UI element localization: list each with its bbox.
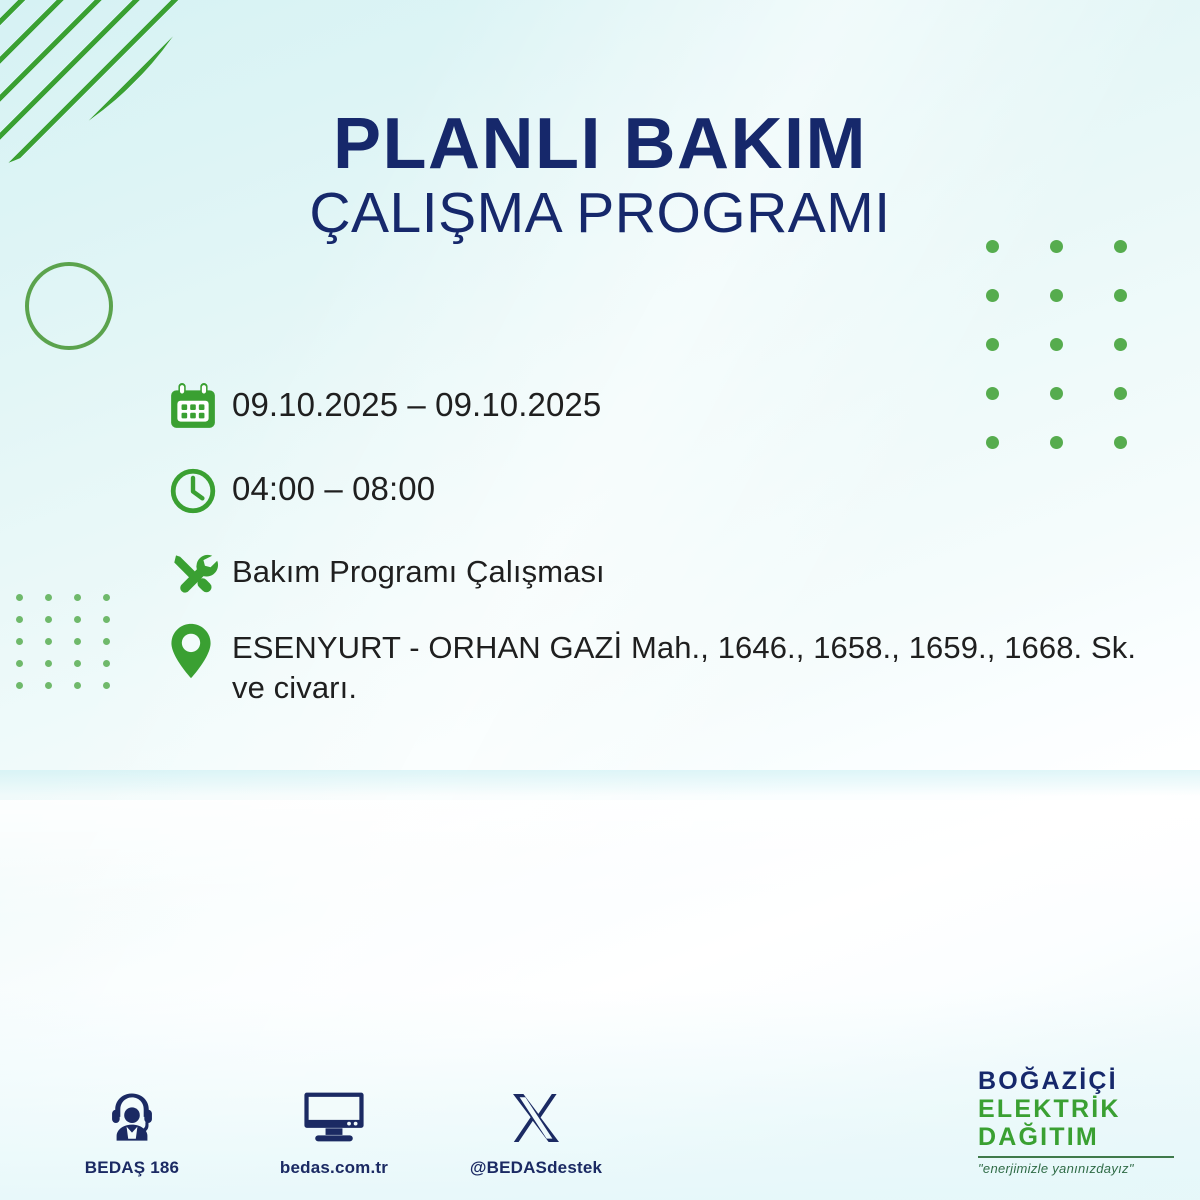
brand-line-2: ELEKTRİK [978,1095,1178,1123]
poster-canvas: PLANLI BAKIM ÇALIŞMA PROGRAMI [0,0,1200,1200]
contact-website[interactable]: bedas.com.tr [260,1082,408,1178]
detail-row-work: Bakım Programı Çalışması [168,546,1168,604]
brand-line-1: BOĞAZİÇİ [978,1067,1178,1095]
clock-icon [168,462,232,520]
work-type-text: Bakım Programı Çalışması [232,546,605,592]
brand-logo: BOĞAZİÇİ ELEKTRİK DAĞITIM "enerjimizle y… [978,1067,1178,1176]
contact-phone[interactable]: BEDAŞ 186 [58,1082,206,1178]
contact-website-label: bedas.com.tr [260,1158,408,1178]
location-pin-icon [168,622,232,680]
footer-contacts: BEDAŞ 186 bedas.com.tr [58,1082,610,1178]
x-twitter-icon [462,1082,610,1146]
circle-outline-decoration [25,262,113,350]
header: PLANLI BAKIM ÇALIŞMA PROGRAMI [0,108,1200,247]
brand-divider [978,1156,1174,1158]
page-title: PLANLI BAKIM [0,108,1200,180]
background-band-top [0,770,1200,796]
tools-icon [168,546,232,604]
monitor-icon [260,1082,408,1146]
contact-social-label: @BEDASdestek [462,1158,610,1178]
page-subtitle: ÇALIŞMA PROGRAMI [0,180,1200,247]
background-band-mid [0,800,1200,920]
detail-row-date: 09.10.2025 – 09.10.2025 [168,378,1168,436]
brand-tagline: "enerjimizle yanınızdayız" [978,1161,1178,1176]
detail-row-time: 04:00 – 08:00 [168,462,1168,520]
contact-phone-label: BEDAŞ 186 [58,1158,206,1178]
time-range-text: 04:00 – 08:00 [232,462,435,510]
brand-line-3: DAĞITIM [978,1123,1178,1151]
dot-grid-left-decoration [16,594,132,704]
headset-support-icon [58,1082,206,1146]
calendar-icon [168,378,232,436]
contact-social[interactable]: @BEDASdestek [462,1082,610,1178]
location-text: ESENYURT - ORHAN GAZİ Mah., 1646., 1658.… [232,622,1162,707]
date-range-text: 09.10.2025 – 09.10.2025 [232,378,601,426]
outage-details: 09.10.2025 – 09.10.2025 04:00 – 08:00 [168,378,1168,733]
detail-row-location: ESENYURT - ORHAN GAZİ Mah., 1646., 1658.… [168,622,1168,707]
